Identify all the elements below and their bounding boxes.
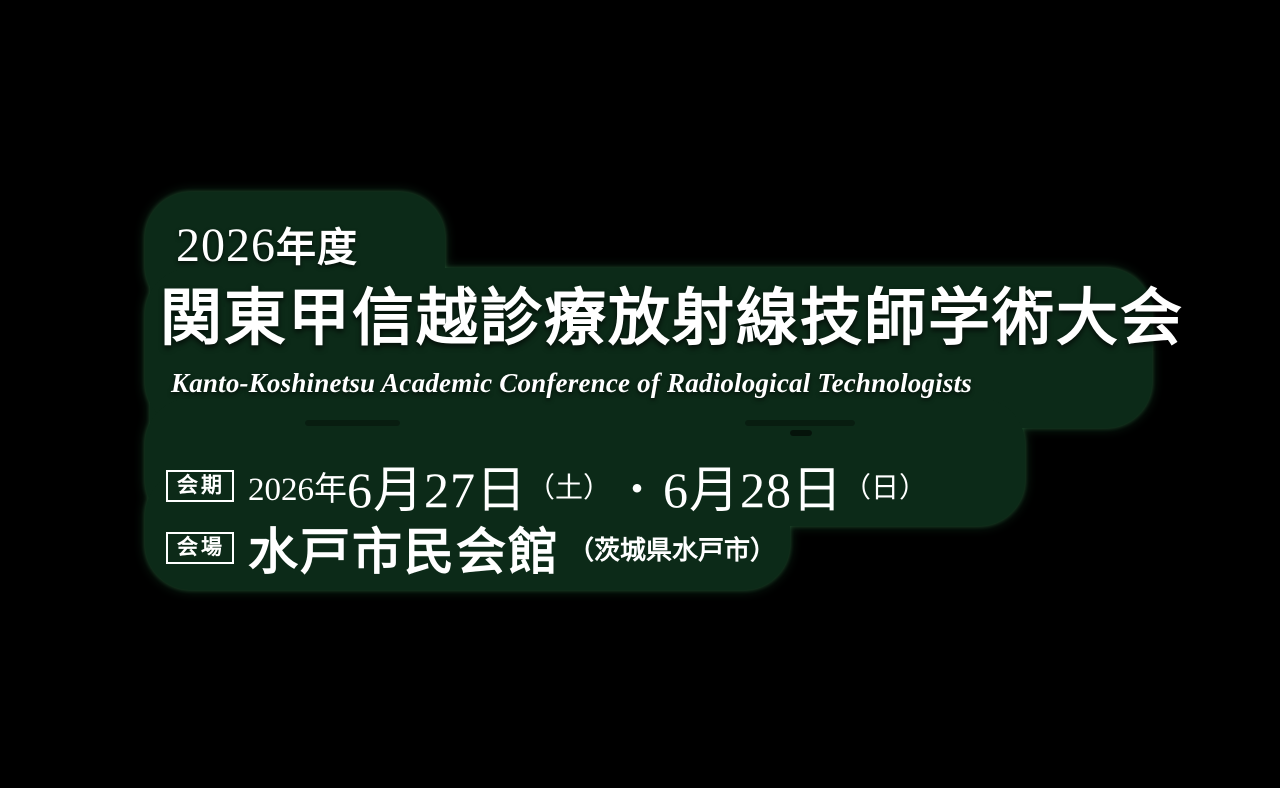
poster-canvas: 2026年度 関東甲信越診療放射線技師学術大会 Kanto-Koshinetsu…: [0, 0, 1280, 788]
conference-title-en: Kanto-Koshinetsu Academic Conference of …: [171, 368, 972, 399]
venue-name: 水戸市民会館: [248, 512, 560, 584]
venue-badge: 会場: [166, 532, 234, 564]
date-day-2-weekday: （日）: [843, 466, 927, 506]
year-number: 2026: [176, 219, 276, 272]
venue-location: （茨城県水戸市）: [560, 530, 776, 567]
year-suffix: 年度: [276, 225, 358, 270]
conference-title-ja: 関東甲信越診療放射線技師学術大会: [160, 288, 1184, 350]
venue-row: 会場 水戸市民会館 （茨城県水戸市）: [166, 512, 776, 584]
date-year: 2026年: [248, 462, 347, 510]
year-line: 2026年度: [176, 215, 358, 273]
date-day-1-weekday: （土）: [527, 466, 611, 506]
poster-content: 2026年度 関東甲信越診療放射線技師学術大会 Kanto-Koshinetsu…: [0, 0, 1280, 788]
date-badge: 会期: [166, 470, 234, 502]
date-separator: ・: [611, 457, 663, 515]
